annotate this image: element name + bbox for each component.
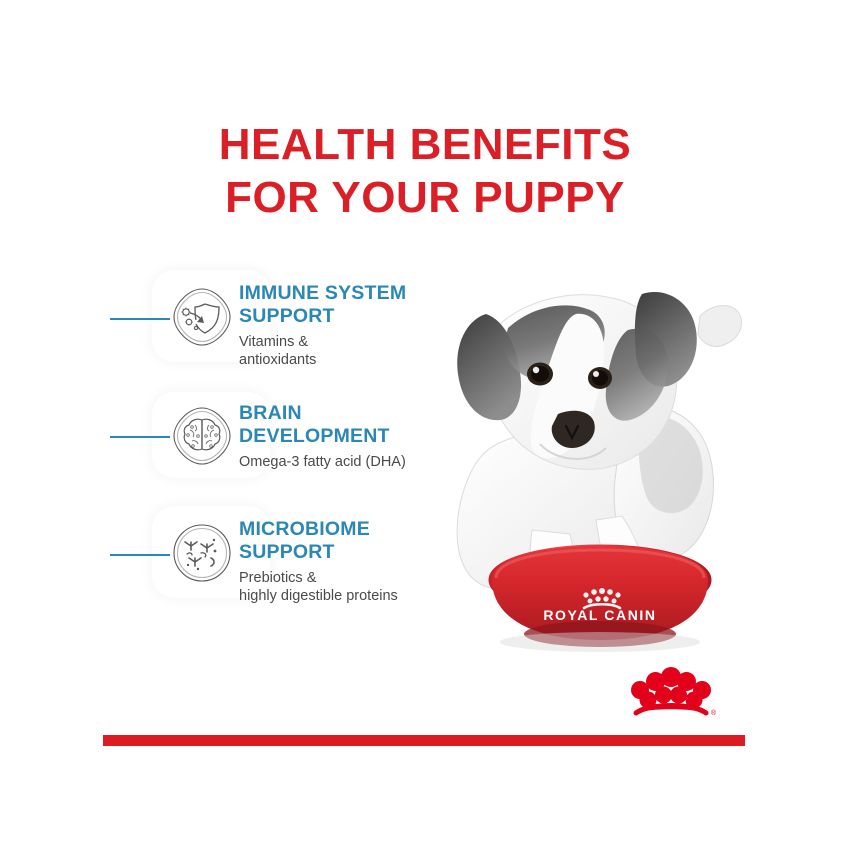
bottom-red-bar [103,735,745,746]
benefit-item-brain-development[interactable]: BRAIN DEVELOPMENT Omega-3 fatty acid (DH… [0,388,470,500]
connector-line [110,318,170,320]
benefit-subtitle-line-1: Vitamins & [239,334,308,350]
health-benefits-infographic: HEALTH BENEFITS FOR YOUR PUPPY [0,0,850,850]
benefit-title-line-2: SUPPORT [239,541,335,563]
benefit-text-block: BRAIN DEVELOPMENT Omega-3 fatty acid (DH… [239,402,454,471]
benefit-title-line-1: MICROBIOME [239,518,370,540]
benefit-title: BRAIN DEVELOPMENT [239,402,454,448]
brain-icon [171,405,233,467]
benefit-title: IMMUNE SYSTEM SUPPORT [239,282,464,328]
benefit-item-immune-system[interactable]: IMMUNE SYSTEM SUPPORT Vitamins & antioxi… [0,262,470,388]
connector-line [110,554,170,556]
benefit-subtitle: Vitamins & antioxidants [239,333,464,369]
benefit-subtitle-line-1: Omega-3 fatty acid (DHA) [239,454,406,470]
connector-line [110,436,170,438]
immune-shield-icon [171,286,233,348]
benefit-subtitle: Omega-3 fatty acid (DHA) [239,453,454,471]
benefit-title-line-2: SUPPORT [239,305,335,327]
page-title-line-1: HEALTH BENEFITS [0,118,850,171]
benefit-item-microbiome-support[interactable]: MICROBIOME SUPPORT Prebiotics & highly d… [0,500,470,630]
benefit-title: MICROBIOME SUPPORT [239,518,444,564]
benefit-subtitle-line-2: antioxidants [239,352,316,368]
bowl-brand-text: ROYAL CANIN [543,607,656,623]
microbiome-bacteria-icon [171,522,233,584]
benefit-subtitle-line-2: highly digestible proteins [239,588,398,604]
royal-canin-crown-logo: ® [625,663,717,725]
benefit-title-line-1: BRAIN [239,402,302,424]
benefits-list: IMMUNE SYSTEM SUPPORT Vitamins & antioxi… [0,262,470,630]
benefit-text-block: MICROBIOME SUPPORT Prebiotics & highly d… [239,518,444,605]
page-title: HEALTH BENEFITS FOR YOUR PUPPY [0,118,850,224]
benefit-title-line-1: IMMUNE SYSTEM [239,282,406,304]
benefit-title-line-2: DEVELOPMENT [239,425,390,447]
page-title-line-2: FOR YOUR PUPPY [0,171,850,224]
benefit-subtitle-line-1: Prebiotics & [239,570,316,586]
benefit-subtitle: Prebiotics & highly digestible proteins [239,569,444,605]
trademark-symbol: ® [711,709,717,717]
benefit-text-block: IMMUNE SYSTEM SUPPORT Vitamins & antioxi… [239,282,464,369]
